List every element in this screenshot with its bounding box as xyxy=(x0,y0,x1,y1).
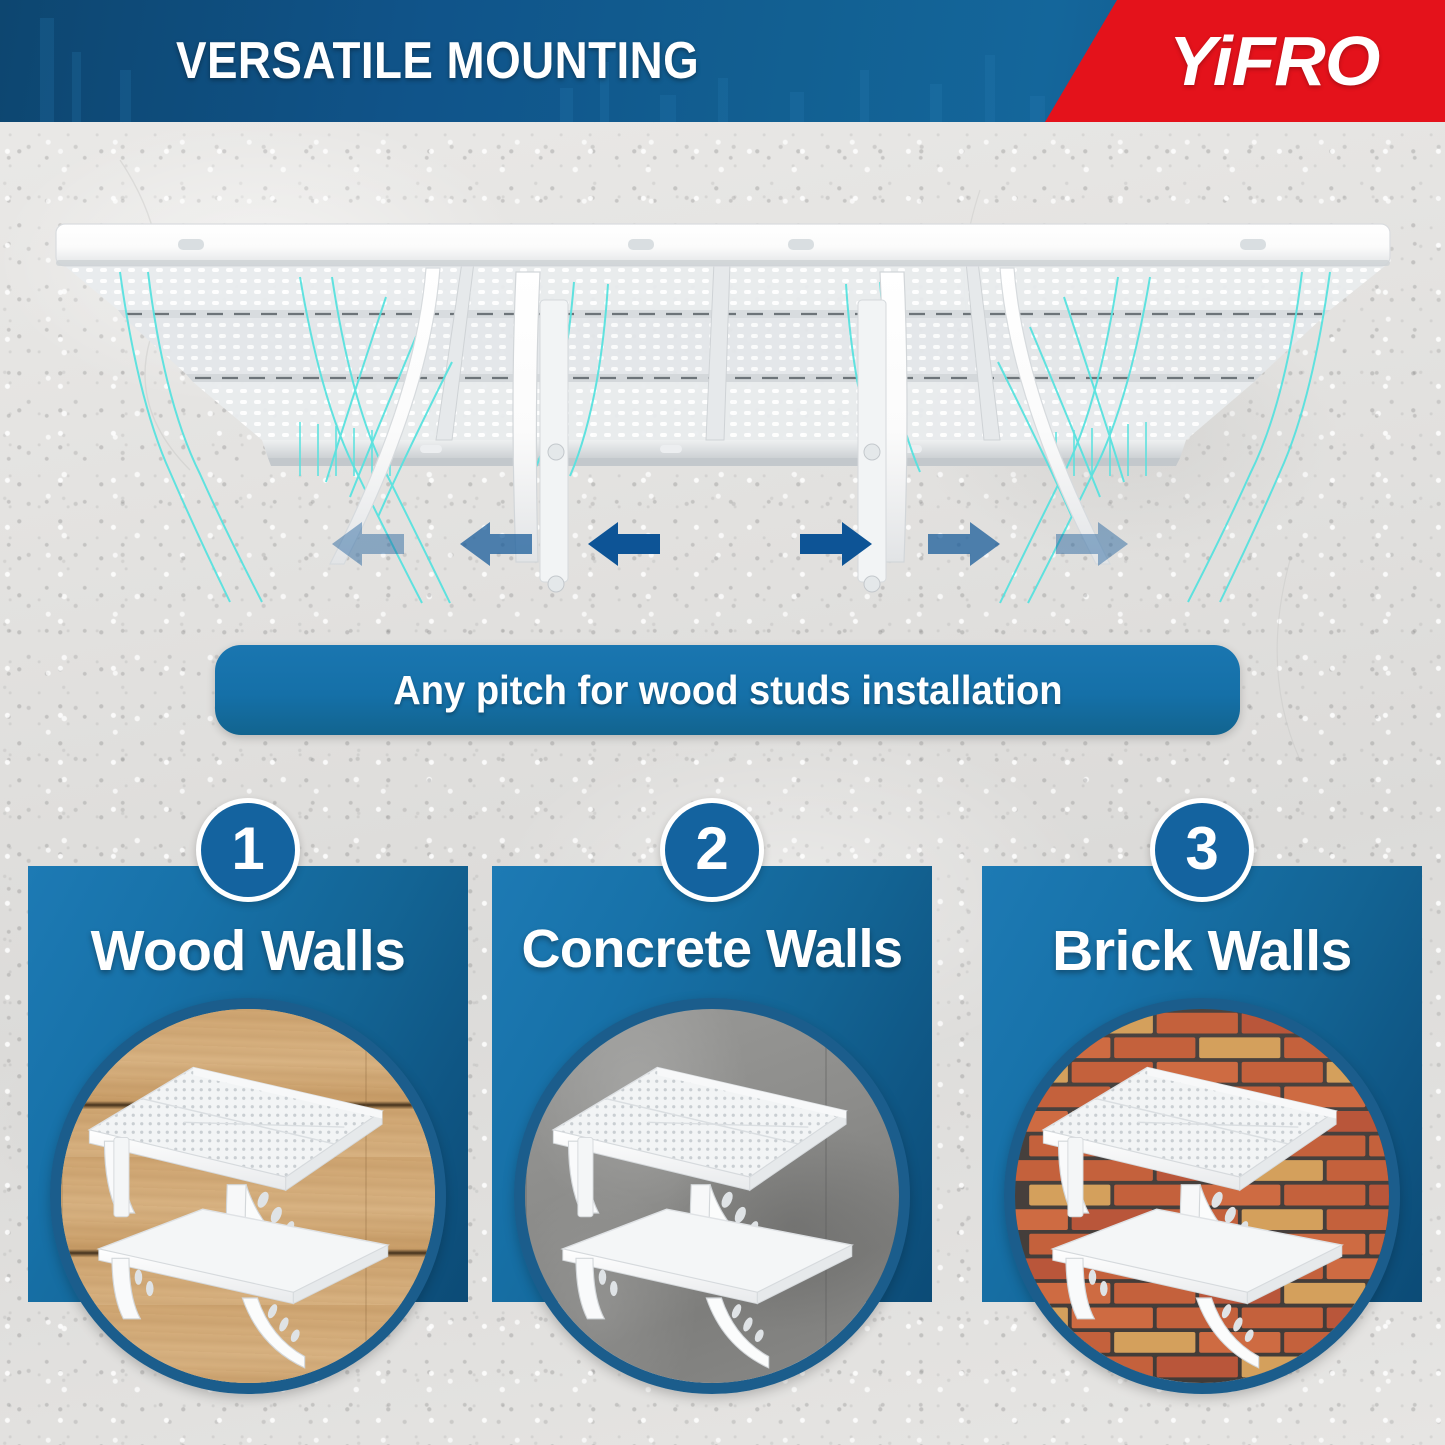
panel-wood-walls[interactable]: Wood Walls xyxy=(28,866,468,1302)
panel-brick-walls[interactable]: Brick Walls xyxy=(982,866,1422,1302)
panel-photo-concrete xyxy=(514,998,910,1394)
step-badge-3: 3 xyxy=(1150,798,1254,902)
panel-title: Concrete Walls xyxy=(492,918,932,980)
step-badge-1: 1 xyxy=(196,798,300,902)
shelf-pair-illustration xyxy=(61,1009,435,1383)
wall-type-panels: Wood Walls xyxy=(0,0,1445,1445)
panel-title: Wood Walls xyxy=(28,918,468,984)
step-number: 2 xyxy=(695,819,728,879)
panel-concrete-walls[interactable]: Concrete Walls xyxy=(492,866,932,1302)
shelf-pair-illustration xyxy=(1015,1009,1389,1383)
step-number: 3 xyxy=(1185,819,1218,879)
product-infographic: VERSATILE MOUNTING YiFRO xyxy=(0,0,1445,1445)
panel-title: Brick Walls xyxy=(982,918,1422,984)
step-badge-2: 2 xyxy=(660,798,764,902)
panel-photo-wood xyxy=(50,998,446,1394)
shelf-pair-illustration xyxy=(525,1009,899,1383)
panel-photo-brick xyxy=(1004,998,1400,1394)
step-number: 1 xyxy=(231,819,264,879)
